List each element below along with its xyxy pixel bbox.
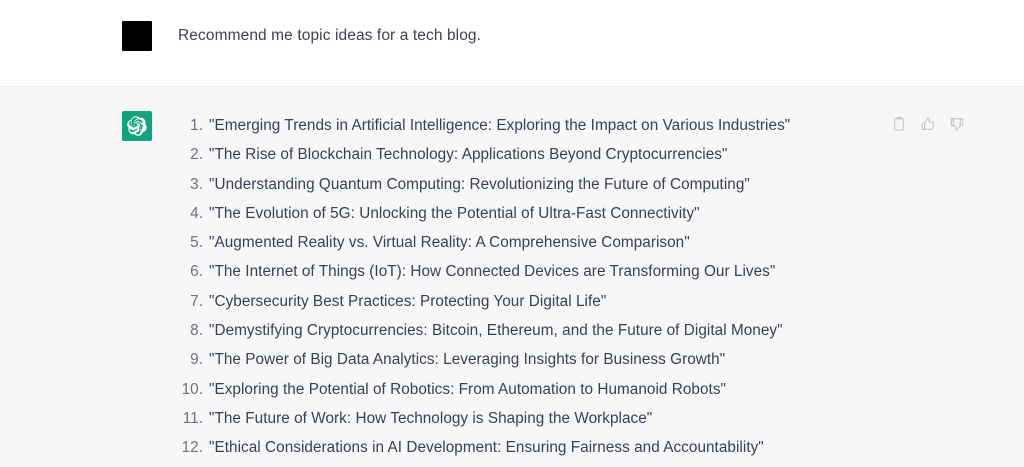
assistant-message-body: "Emerging Trends in Artificial Intellige…: [178, 111, 790, 463]
list-item: "Understanding Quantum Computing: Revolu…: [178, 170, 790, 199]
copy-button[interactable]: [887, 112, 911, 136]
list-item: "Emerging Trends in Artificial Intellige…: [178, 111, 790, 140]
list-item: "The Future of Work: How Technology is S…: [178, 404, 790, 433]
user-message-text: Recommend me topic ideas for a tech blog…: [178, 21, 481, 51]
list-item: "Augmented Reality vs. Virtual Reality: …: [178, 228, 790, 257]
copy-icon: [891, 116, 907, 132]
list-item: "The Power of Big Data Analytics: Levera…: [178, 345, 790, 374]
list-item: "Demystifying Cryptocurrencies: Bitcoin,…: [178, 316, 790, 345]
list-item: "The Rise of Blockchain Technology: Appl…: [178, 140, 790, 169]
chatgpt-logo-icon: [122, 111, 152, 141]
assistant-message-turn: "Emerging Trends in Artificial Intellige…: [0, 87, 1024, 467]
list-item: "Cybersecurity Best Practices: Protectin…: [178, 287, 790, 316]
list-item: "Exploring the Potential of Robotics: Fr…: [178, 375, 790, 404]
thumbs-down-icon: [949, 116, 965, 132]
conversation-thread: Recommend me topic ideas for a tech blog…: [0, 0, 1024, 467]
list-item: "The Evolution of 5G: Unlocking the Pote…: [178, 199, 790, 228]
thumbs-up-button[interactable]: [916, 112, 940, 136]
thumbs-up-icon: [920, 116, 936, 132]
list-item: "The Internet of Things (IoT): How Conne…: [178, 257, 790, 286]
user-avatar: [122, 21, 152, 51]
user-message-turn: Recommend me topic ideas for a tech blog…: [0, 0, 1024, 86]
list-item: "Ethical Considerations in AI Developmen…: [178, 433, 790, 462]
thumbs-down-button[interactable]: [945, 112, 969, 136]
message-actions: [887, 112, 969, 136]
topic-ideas-list: "Emerging Trends in Artificial Intellige…: [178, 111, 790, 463]
